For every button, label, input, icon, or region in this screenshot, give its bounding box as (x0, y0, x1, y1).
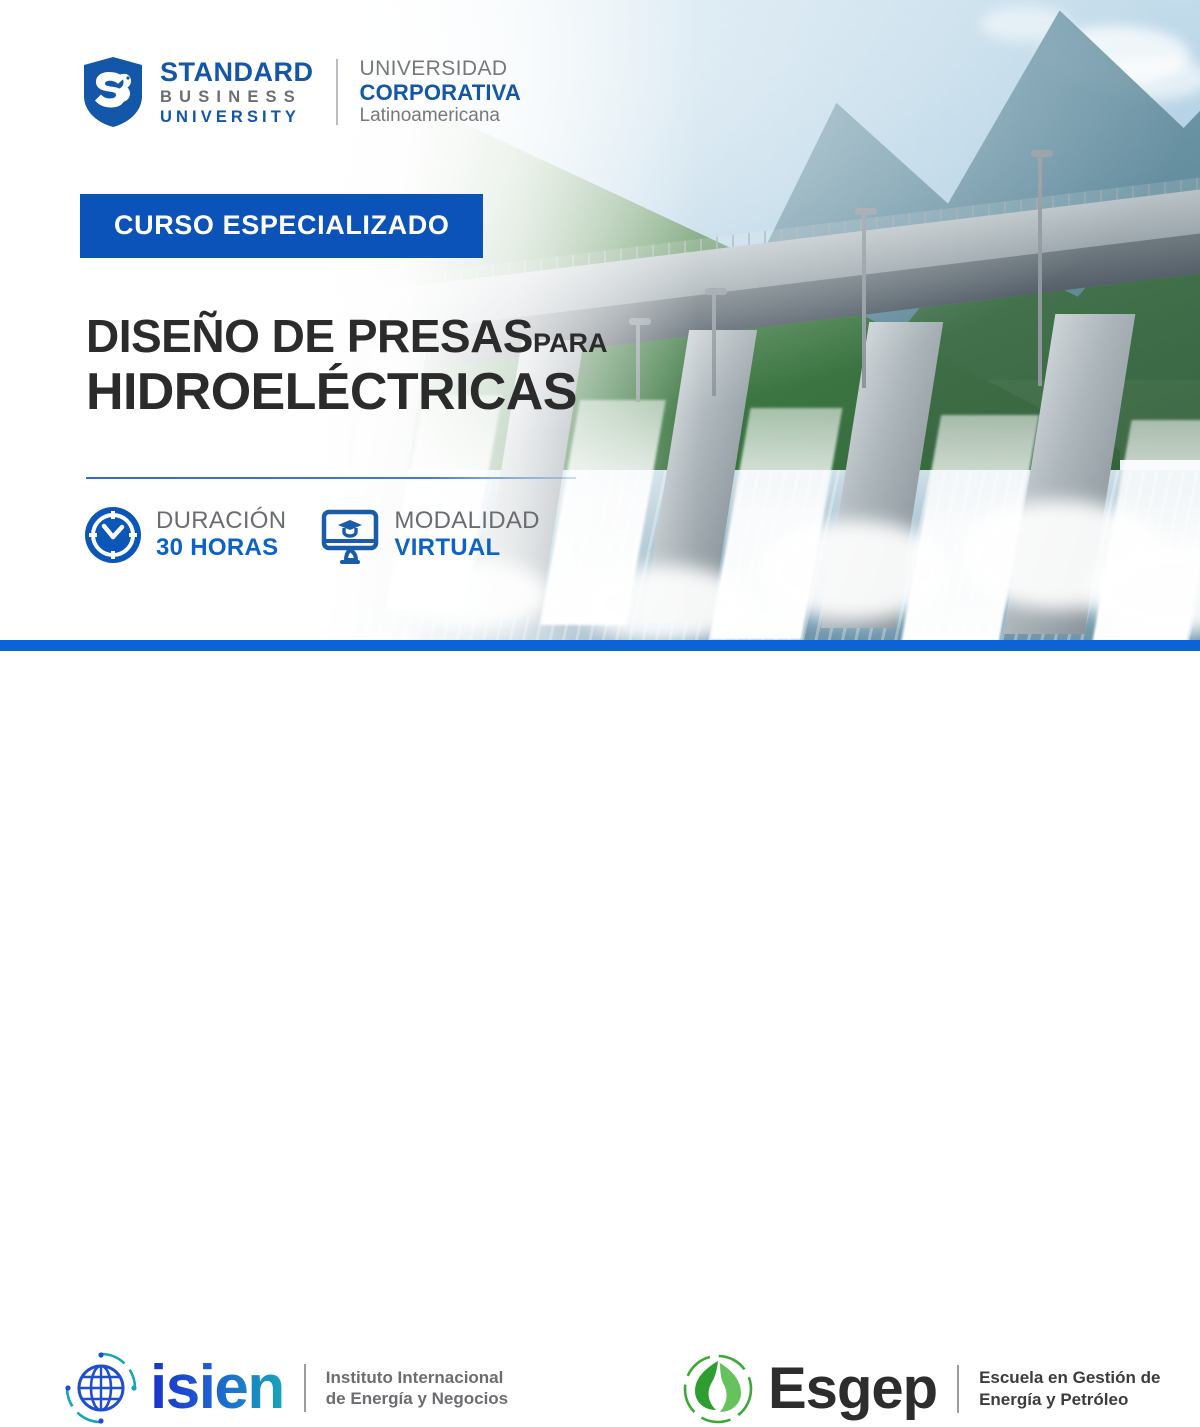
esgep-divider (957, 1365, 959, 1413)
isien-logo: isien Instituto Internacional de Energía… (64, 1351, 508, 1425)
meta-modality-text: MODALIDAD VIRTUAL (394, 508, 539, 562)
esgep-wordmark: Esgep (768, 1361, 937, 1416)
lockup-divider (336, 59, 338, 125)
meta-duration-label: DURACIÓN (156, 508, 286, 535)
foam (760, 520, 950, 620)
monitor-graduation-icon (320, 505, 380, 565)
footer-section: isien Instituto Internacional de Energía… (0, 651, 1200, 864)
isien-divider (304, 1364, 306, 1412)
sbu-wordmark: STANDARD BUSINESS UNIVERSITY (160, 59, 314, 125)
esgep-tagline: Escuela en Gestión de Energía y Petróleo (979, 1367, 1160, 1411)
sbu-standard: STANDARD (160, 59, 314, 86)
meta-duration-text: DURACIÓN 30 HORAS (156, 508, 286, 562)
clock-icon (84, 506, 142, 564)
title-main-1: DISEÑO DE PRESAS (86, 310, 533, 362)
hero-section: STANDARD BUSINESS UNIVERSITY UNIVERSIDAD… (0, 0, 1200, 640)
meta-modality: MODALIDAD VIRTUAL (320, 505, 539, 565)
title-line-2: HIDROELÉCTRICAS (86, 365, 608, 419)
title-line-1: DISEÑO DE PRESASPARA (86, 313, 608, 361)
isien-wordmark: isien (150, 1360, 284, 1416)
isien-tagline: Instituto Internacional de Energía y Neg… (326, 1367, 508, 1410)
course-meta: DURACIÓN 30 HORAS MODALIDAD VIRTUAL (84, 505, 540, 565)
esgep-tagline-2: Energía y Petróleo (979, 1389, 1160, 1411)
uc-line-2: CORPORATIVA (360, 81, 522, 106)
sbu-business: BUSINESS (160, 89, 314, 106)
title-divider (86, 477, 576, 479)
globe-icon (64, 1351, 138, 1425)
uc-wordmark: UNIVERSIDAD CORPORATIVA Latinoamericana (360, 57, 522, 126)
shield-lion-icon (82, 56, 144, 128)
meta-modality-label: MODALIDAD (394, 508, 539, 535)
course-promo-page: STANDARD BUSINESS UNIVERSITY UNIVERSIDAD… (0, 0, 1200, 864)
green-leaf-circle-icon (680, 1351, 756, 1427)
course-type-badge: CURSO ESPECIALIZADO (80, 194, 483, 258)
badge-label: CURSO ESPECIALIZADO (114, 210, 449, 240)
isien-tagline-1: Instituto Internacional (326, 1367, 508, 1388)
isien-tagline-2: de Energía y Negocios (326, 1388, 508, 1409)
uc-line-3: Latinoamericana (360, 105, 522, 126)
uc-line-1: UNIVERSIDAD (360, 57, 522, 81)
title-para: PARA (533, 328, 608, 358)
meta-modality-value: VIRTUAL (394, 535, 539, 562)
esgep-logo: Esgep Escuela en Gestión de Energía y Pe… (680, 1351, 1160, 1427)
page-title: DISEÑO DE PRESASPARA HIDROELÉCTRICAS (86, 313, 608, 419)
sbu-university: UNIVERSITY (160, 109, 314, 126)
meta-duration-value: 30 HORAS (156, 535, 286, 562)
blue-separator-bar (0, 640, 1200, 651)
brand-lockup: STANDARD BUSINESS UNIVERSITY UNIVERSIDAD… (82, 56, 521, 128)
meta-duration: DURACIÓN 30 HORAS (84, 506, 286, 564)
esgep-tagline-1: Escuela en Gestión de (979, 1367, 1160, 1389)
